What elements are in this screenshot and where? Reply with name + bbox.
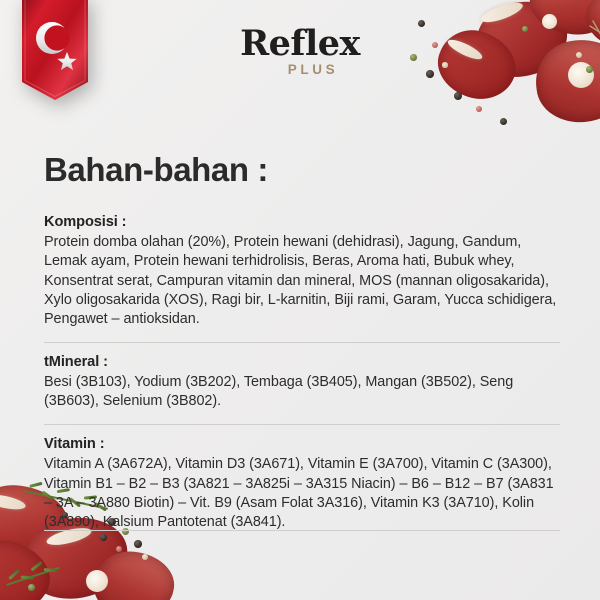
brand-wordmark: Reflex [240,26,360,61]
ingredients-content: Bahan-bahan : Komposisi : Protein domba … [44,152,560,534]
section-mineral: tMineral : Besi (3B103), Yodium (3B202),… [44,354,560,411]
section-body-komposisi: Protein domba olahan (20%), Protein hewa… [44,233,560,329]
starburst-icon [588,13,600,39]
brand-logo: Reflex PLUS [0,26,600,77]
brand-sub-label: PLUS [0,62,600,77]
section-heading-komposisi: Komposisi : [44,214,560,230]
section-divider-1 [44,342,560,343]
section-komposisi: Komposisi : Protein domba olahan (20%), … [44,214,560,329]
section-divider-2 [44,424,560,425]
product-ingredients-panel: Reflex PLUS Bahan-bahan : Komposisi : Pr… [0,0,600,600]
page-title: Bahan-bahan : [44,152,560,188]
section-body-mineral: Besi (3B103), Yodium (3B202), Tembaga (3… [44,373,560,411]
section-body-vitamin: Vitamin A (3A672A), Vitamin D3 (3A671), … [44,455,560,532]
section-heading-mineral: tMineral : [44,354,560,370]
section-vitamin: Vitamin : Vitamin A (3A672A), Vitamin D3… [44,436,560,532]
section-heading-vitamin: Vitamin : [44,436,560,452]
section-divider-3 [44,530,560,531]
